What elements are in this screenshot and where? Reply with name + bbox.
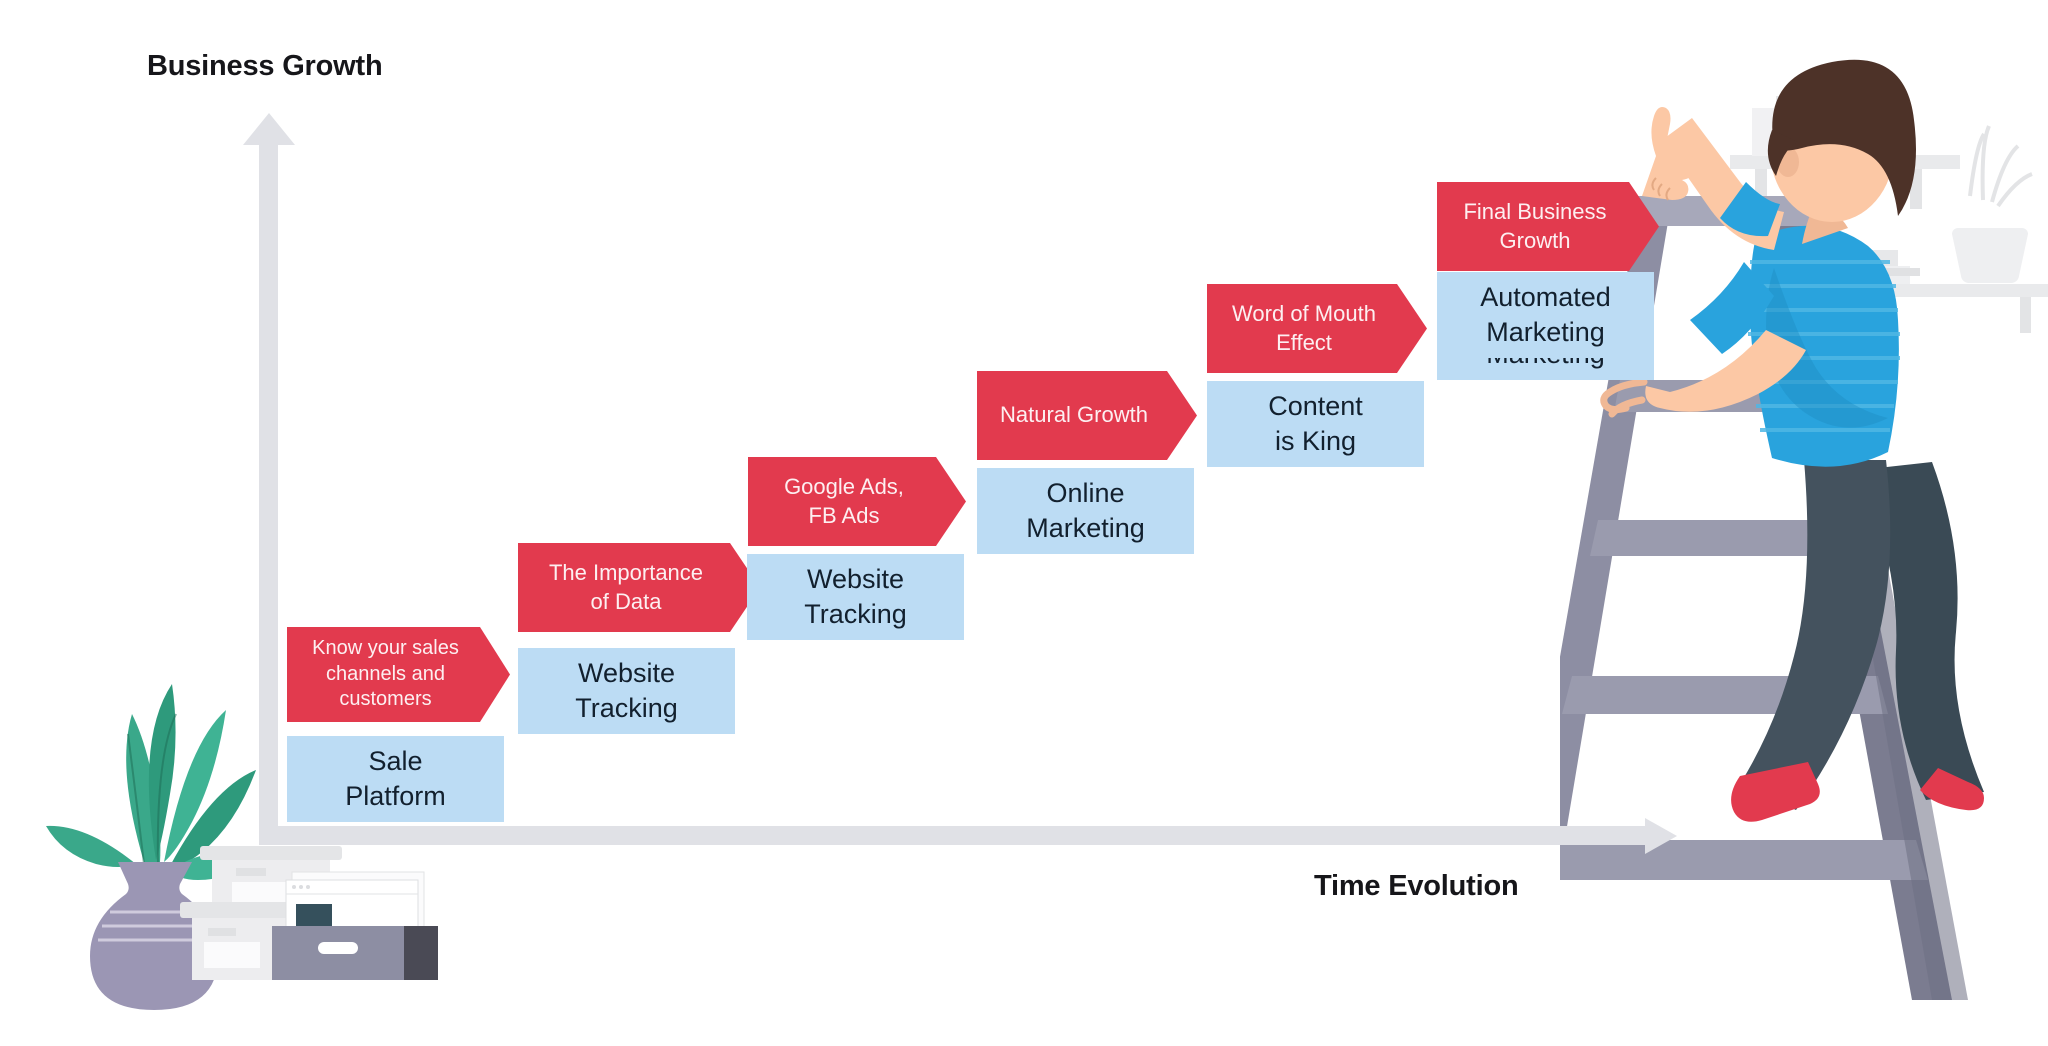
step-6-driver-line1: Final Business (1463, 198, 1606, 226)
step-2-stage-box-lower: Website Tracking (518, 648, 735, 734)
diagram-canvas: Business Growth Time Evolution Know your… (0, 0, 2048, 1046)
step-2-stage-box-main: Website Tracking (747, 554, 964, 640)
step-1-driver-line1: Know your sales (312, 636, 459, 662)
step-1-stage-line1: Sale (345, 744, 446, 779)
step-2-stage-lower-line2: Tracking (575, 691, 678, 726)
step-3-driver-arrow: Google Ads, FB Ads (748, 457, 966, 546)
step-2-stage-line2: Tracking (804, 597, 907, 632)
step-3-driver-line1: Google Ads, (784, 473, 904, 501)
step-4-stage-line2: is King (1268, 424, 1363, 459)
step-2-stage-line1: Website (804, 562, 907, 597)
step-2-driver-arrow: The Importance of Data (518, 543, 760, 632)
step-6-driver-arrow: Final Business Growth (1437, 182, 1659, 271)
step-2-driver-line2: of Data (549, 588, 703, 616)
step-6-stage-line1: Automated (1480, 280, 1611, 315)
step-6-driver-line2: Growth (1463, 227, 1606, 255)
y-axis-label: Business Growth (147, 50, 383, 83)
step-3-stage-line1: Online (1026, 476, 1145, 511)
x-axis-arrow-icon (1645, 818, 1677, 854)
step-2-stage-lower-line1: Website (575, 656, 678, 691)
step-3-driver-line2: FB Ads (784, 502, 904, 530)
step-5-driver-arrow: Word of Mouth Effect (1207, 284, 1427, 373)
right-illustration (1560, 0, 2048, 1000)
boxes-icon (180, 846, 438, 980)
step-3-stage-line2: Marketing (1026, 511, 1145, 546)
step-1-driver-arrow: Know your sales channels and customers (287, 627, 510, 722)
step-5-driver-line2: Effect (1232, 329, 1376, 357)
step-3-stage-box: Online Marketing (977, 468, 1194, 554)
x-axis-line (259, 826, 1658, 845)
y-axis-arrow-icon (243, 113, 295, 145)
step-6-stage-line2: Marketing (1480, 315, 1611, 350)
step-4-driver-arrow: Natural Growth (977, 371, 1197, 460)
step-1-driver-line3: customers (312, 687, 459, 713)
step-4-stage-box: Content is King (1207, 381, 1424, 467)
step-4-stage-line1: Content (1268, 389, 1363, 424)
step-1-driver-line2: channels and (312, 662, 459, 688)
step-6-stage-box: Automated Marketing (1437, 272, 1654, 358)
step-1-stage-line2: Platform (345, 779, 446, 814)
step-2-driver-line1: The Importance (549, 559, 703, 587)
step-5-driver-line1: Word of Mouth (1232, 300, 1376, 328)
step-1-stage-box: Sale Platform (287, 736, 504, 822)
step-4-driver-line1: Natural Growth (1000, 401, 1148, 429)
x-axis-label: Time Evolution (1314, 870, 1519, 903)
y-axis-line (259, 130, 278, 845)
